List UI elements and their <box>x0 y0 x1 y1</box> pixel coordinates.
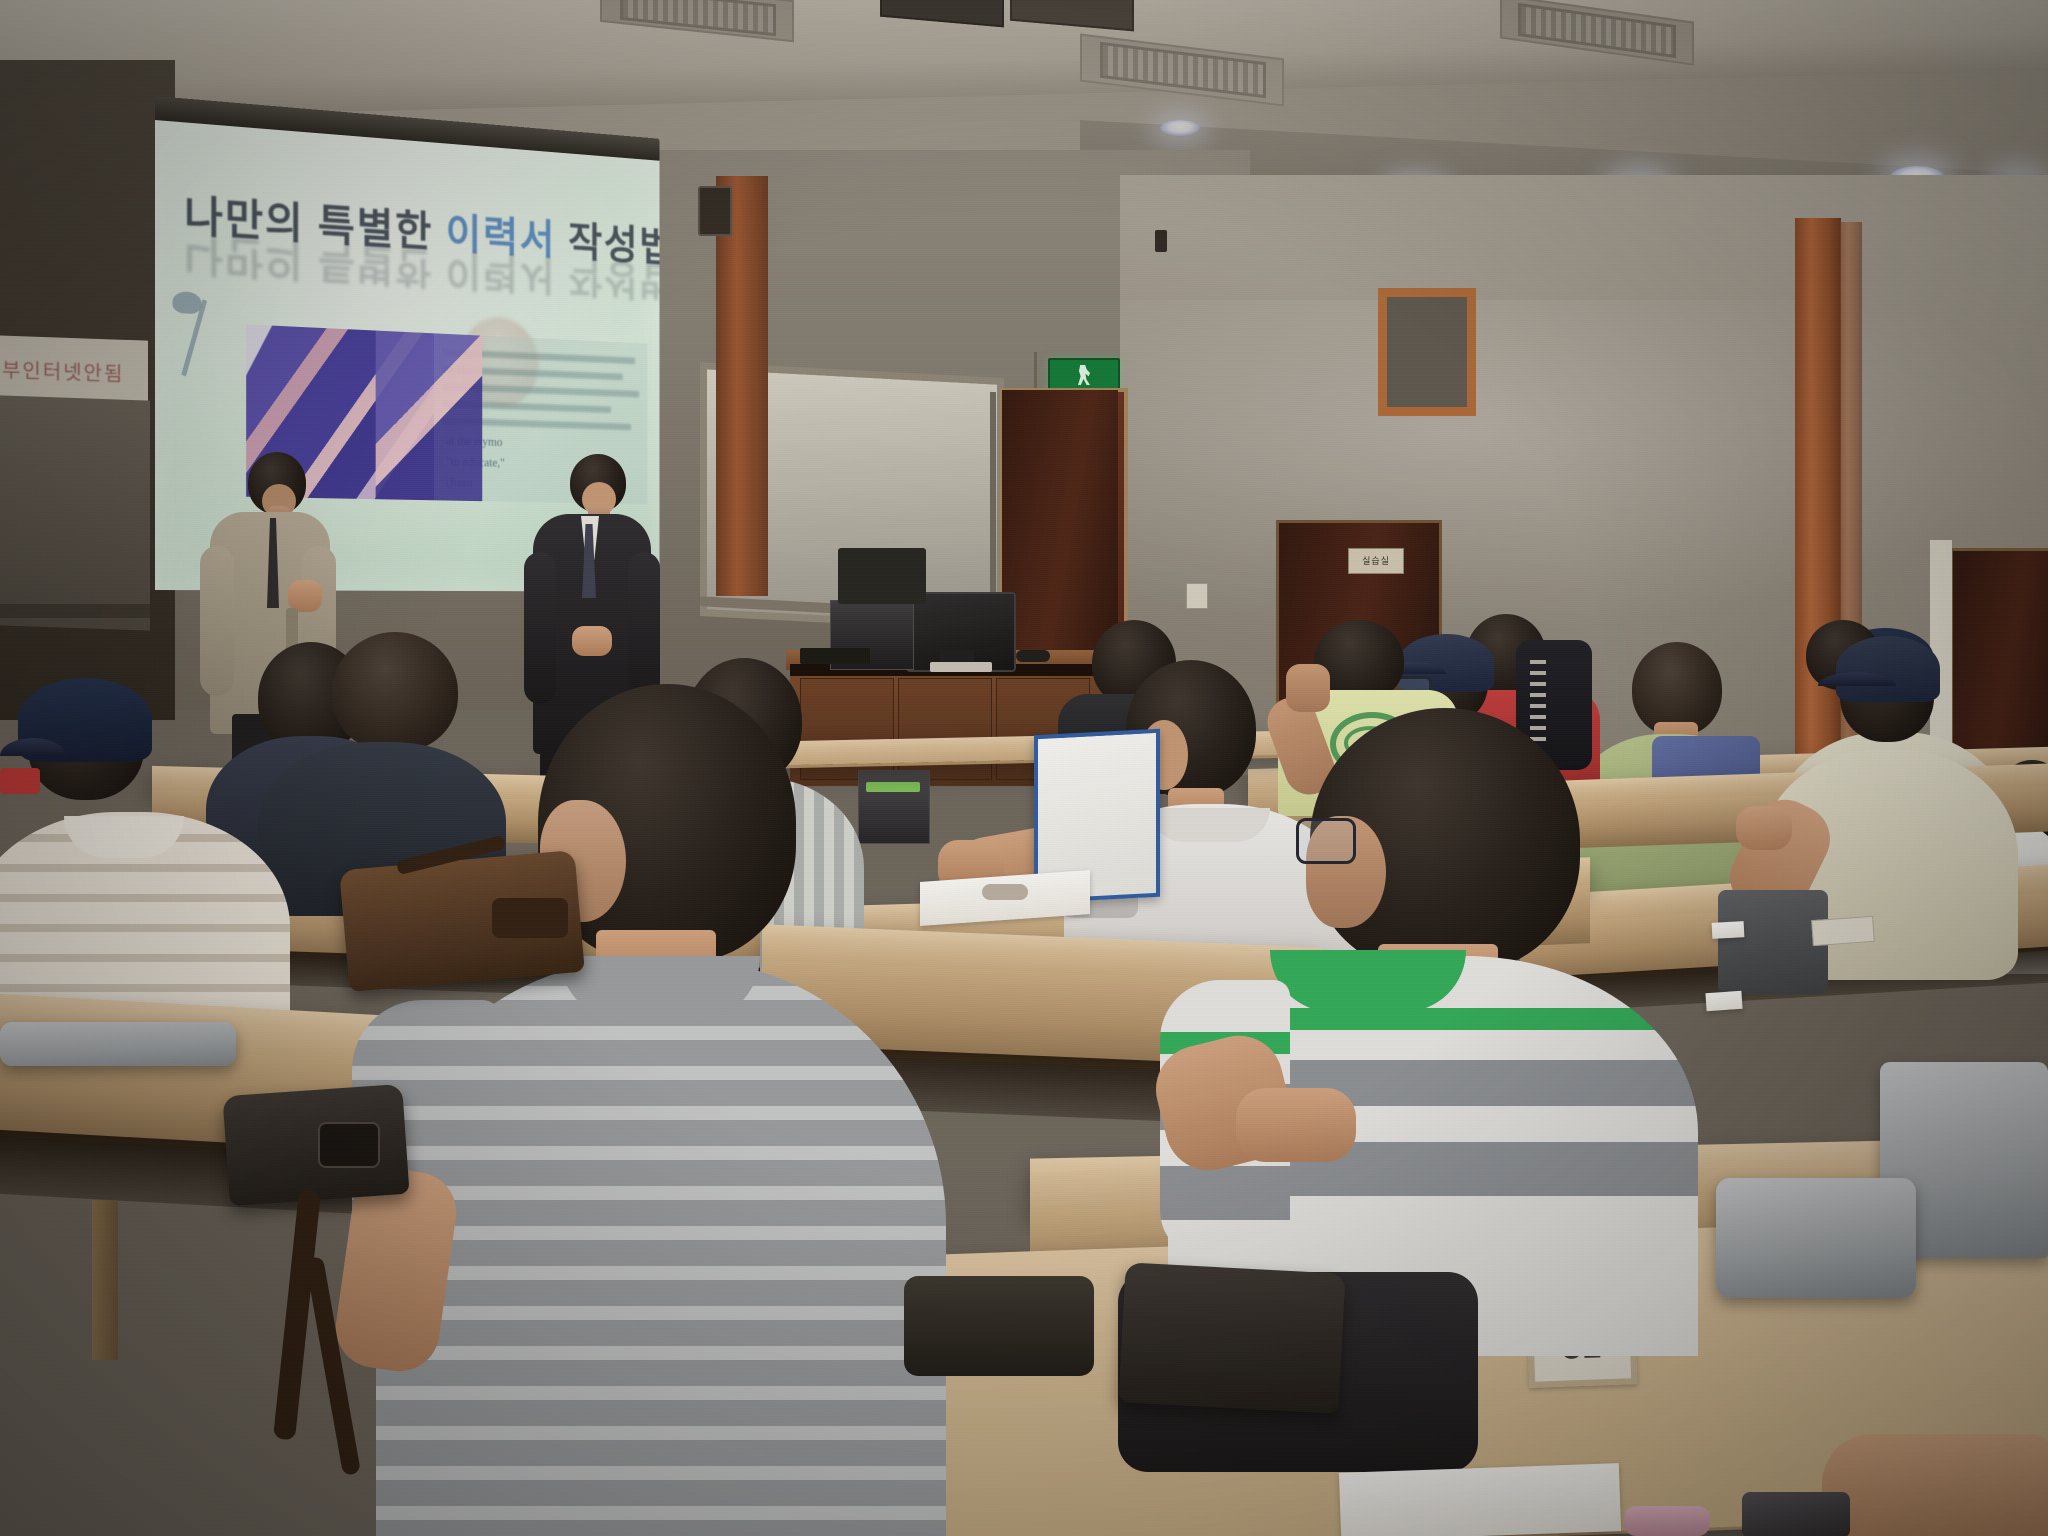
light-switch[interactable] <box>1186 583 1208 609</box>
black-camera-bag[interactable] <box>222 1084 409 1206</box>
slide-abstract-image-2 <box>376 331 483 502</box>
wall-column <box>716 176 768 596</box>
black-bag-floor[interactable] <box>1118 1262 1345 1413</box>
shirt-collar <box>1270 950 1466 1012</box>
presenter2-arm-right <box>628 552 660 704</box>
security-camera-icon <box>1155 230 1167 252</box>
left-wall-trim <box>0 604 150 618</box>
door-panel <box>1002 390 1118 666</box>
student-hand <box>1286 664 1330 712</box>
tshirt-collar <box>1150 808 1270 842</box>
wall-speaker <box>698 186 732 236</box>
small-paper-scrap <box>1705 991 1742 1011</box>
emergency-exit-icon <box>1048 358 1120 392</box>
student-hands <box>1236 1088 1356 1162</box>
black-item-on-floor <box>904 1276 1094 1376</box>
wall-frame <box>1378 288 1476 416</box>
small-paper-scrap <box>1712 921 1745 939</box>
glasses-icon <box>1296 818 1356 864</box>
student-hand <box>1736 806 1792 850</box>
slide-pushpin-icon <box>163 290 230 377</box>
jacket-print-text <box>1530 660 1546 744</box>
wall-notice-text: 부인터넷안됨 <box>2 354 124 387</box>
desk-leg <box>92 1200 118 1360</box>
equipment-label <box>866 782 920 792</box>
door-sign-plate: 실습실 <box>1348 548 1404 574</box>
bag-pocket <box>318 1122 380 1168</box>
mobile-phone[interactable] <box>1742 1492 1850 1536</box>
viewer-hand <box>1822 1434 2048 1536</box>
wall-light-falloff <box>1120 300 2048 630</box>
navy-cap <box>1836 636 1940 702</box>
student-head <box>332 632 458 752</box>
binder-ring-clip <box>982 884 1028 900</box>
bag-buckle <box>492 898 568 938</box>
presenter2-arm-left <box>524 552 556 704</box>
left-wall-panel <box>0 395 150 630</box>
stacking-chair[interactable] <box>1716 1178 1916 1298</box>
second-monitor-back <box>838 548 926 604</box>
cap-logo <box>0 768 40 794</box>
phone-strap <box>1624 1506 1710 1536</box>
mouse[interactable] <box>1016 650 1050 662</box>
stacking-chair[interactable] <box>0 1022 236 1066</box>
lecture-room: 부인터넷안됨 실습실 <box>0 0 2048 1536</box>
presenter2-hands <box>572 626 612 656</box>
classroom-photo: 부인터넷안됨 실습실 <box>0 0 2048 1536</box>
monitor-base <box>930 662 992 672</box>
keyboard[interactable] <box>800 648 870 664</box>
desk-number-small <box>1811 916 1875 946</box>
presenter-arm-left <box>200 546 234 696</box>
podium-cabinet-door[interactable] <box>800 678 894 780</box>
chair-back[interactable] <box>1718 890 1828 994</box>
handout-paper[interactable] <box>1339 1463 1621 1536</box>
podium-cabinet-door[interactable] <box>898 678 992 780</box>
downlight-icon <box>1160 120 1200 136</box>
bag-strap <box>273 1190 321 1441</box>
whiteboard-divider <box>990 392 996 620</box>
